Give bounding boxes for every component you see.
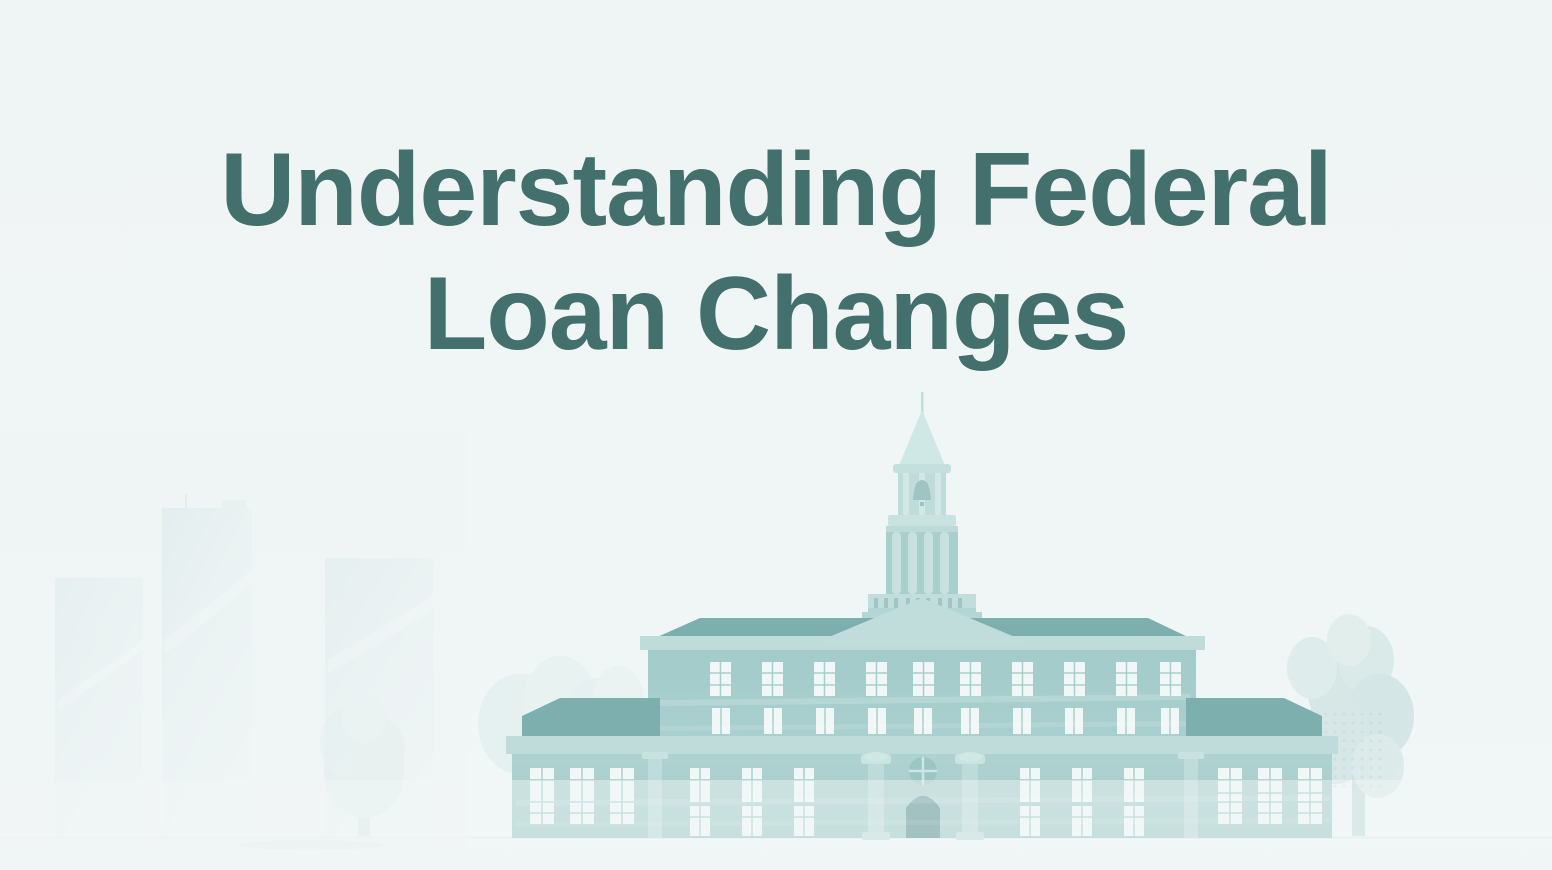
tower-balustrade [868, 594, 976, 610]
left-wing-roof [522, 698, 660, 738]
main-upper-block [640, 598, 1205, 738]
title-line-1: Understanding Federal [0, 128, 1552, 252]
bell-chamber [898, 473, 946, 517]
column-right [955, 752, 985, 840]
arched-door [906, 796, 940, 838]
ground [0, 836, 1552, 870]
skyscraper-left [55, 578, 143, 840]
skyline-group [55, 494, 433, 840]
tree-left-behind-building [478, 656, 644, 774]
left-pilaster [642, 752, 668, 838]
pediment [810, 598, 1034, 645]
skyscraper-center [162, 494, 252, 840]
title-line-2: Loan Changes [0, 252, 1552, 376]
upper-roof [655, 618, 1190, 638]
oculus-window [909, 757, 937, 785]
tower-window-1 [876, 634, 898, 666]
tree-right-cluster [1287, 614, 1414, 848]
skyscraper-right [325, 558, 433, 840]
upper-window-row-1 [710, 662, 1181, 696]
title-slide: Understanding Federal Loan Changes [0, 0, 1552, 870]
bell-tower [862, 392, 982, 712]
upper-facade [648, 650, 1196, 738]
cornice-band [506, 736, 1338, 754]
column-left [861, 752, 891, 840]
upper-window-row-2 [712, 708, 1179, 734]
tower-window-3 [946, 634, 968, 666]
tower-spire [898, 410, 946, 468]
right-pilaster [1178, 752, 1204, 838]
lower-facade [512, 752, 1332, 840]
tower-shaft [862, 612, 982, 712]
bell-icon [913, 480, 931, 500]
page-title: Understanding Federal Loan Changes [0, 128, 1552, 376]
tower-window-2 [911, 634, 933, 666]
right-wing-roof [1186, 698, 1322, 738]
ground-shadow [238, 840, 382, 850]
tower-colonnade [886, 526, 958, 594]
portico-columns [861, 752, 985, 840]
tree-left-faded [320, 692, 405, 846]
